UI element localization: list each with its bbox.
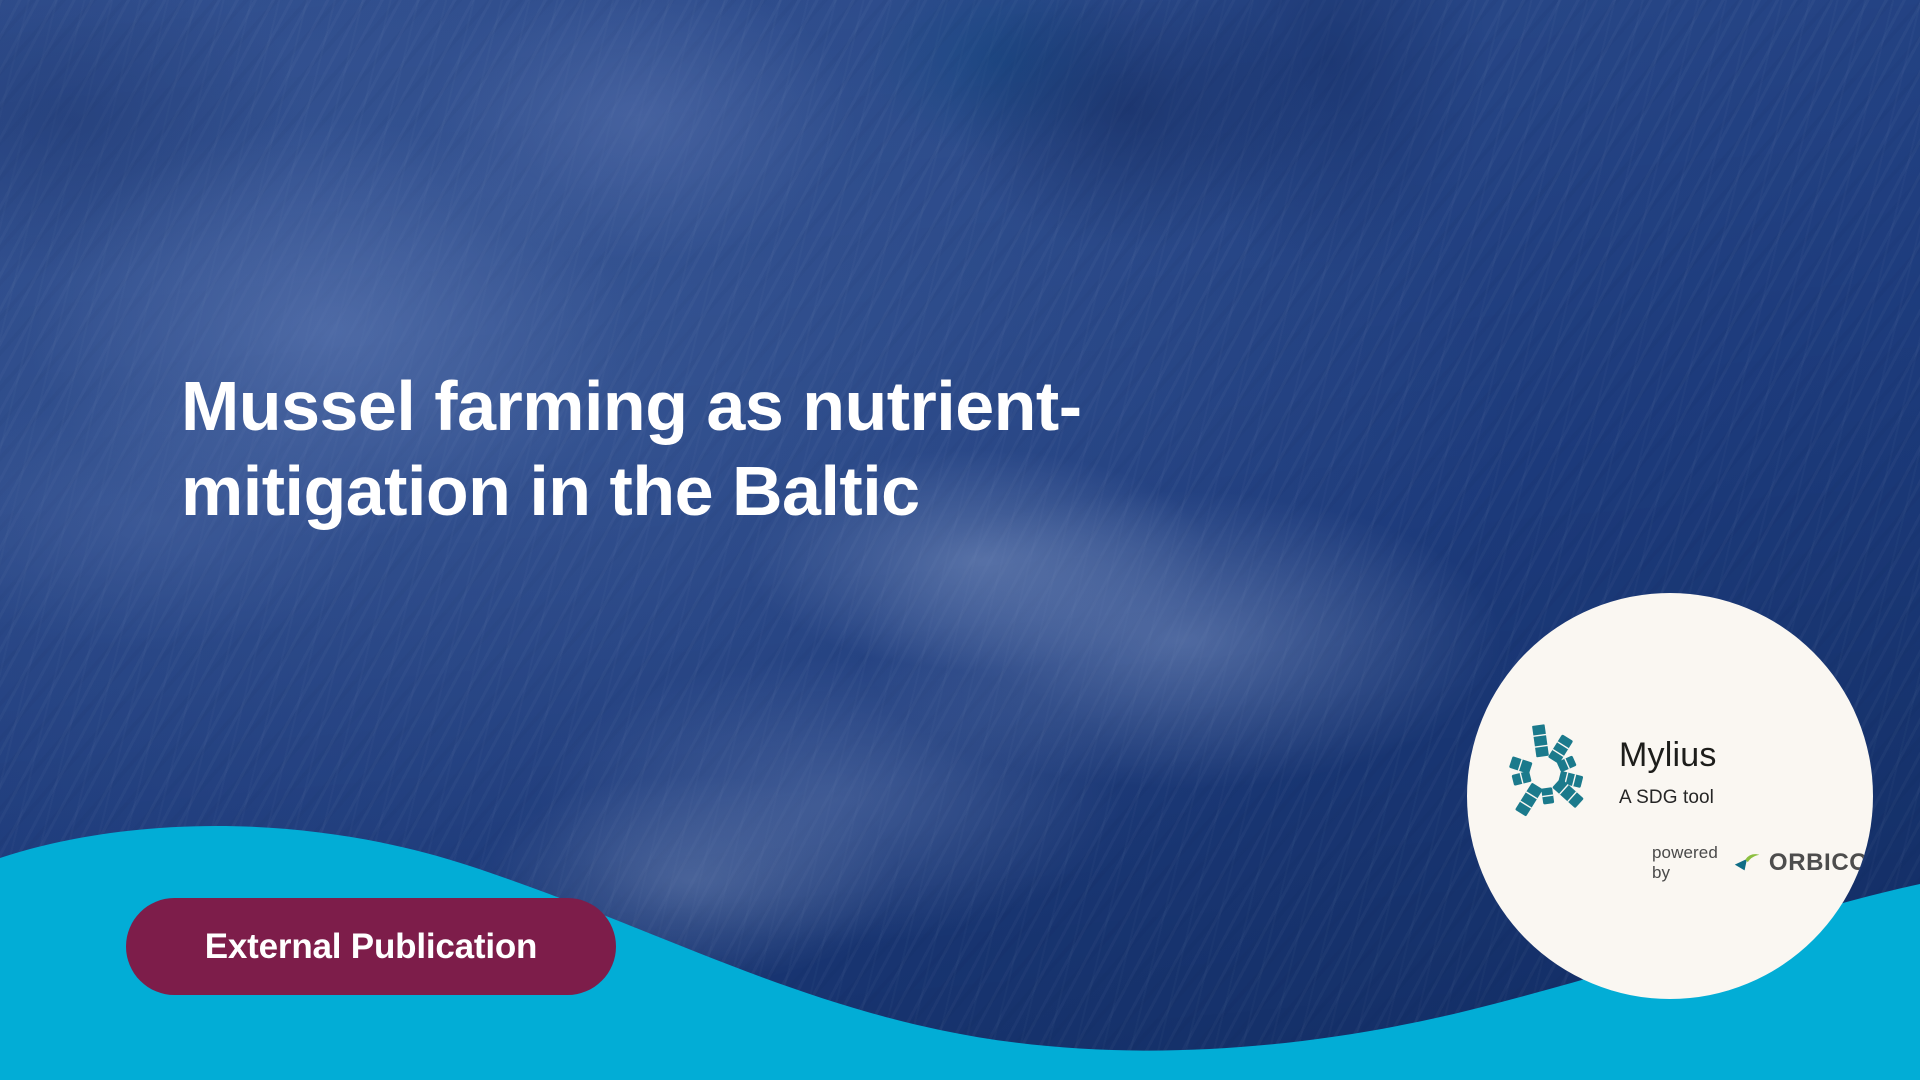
page-title: Mussel farming as nutrient-mitigation in… [181,364,1191,535]
publication-banner: Mussel farming as nutrient-mitigation in… [0,0,1920,1080]
orbicon-wordmark: ORBICON [1769,849,1873,877]
logo-badge-circle[interactable]: Mylius A SDG tool powered by ORBICON [1467,593,1873,999]
logo-name: Mylius [1619,737,1717,774]
powered-by-lockup: powered by ORBICON [1652,843,1873,883]
logo-tagline: A SDG tool [1619,787,1717,809]
logo-text-block: Mylius A SDG tool [1619,737,1717,809]
powered-by-label: powered by [1652,843,1724,883]
logo-lockup: Mylius A SDG tool [1493,721,1717,825]
external-publication-badge[interactable]: External Publication [126,898,616,995]
orbicon-leaf-icon [1734,851,1762,875]
sunburst-sdg-icon [1493,721,1597,825]
